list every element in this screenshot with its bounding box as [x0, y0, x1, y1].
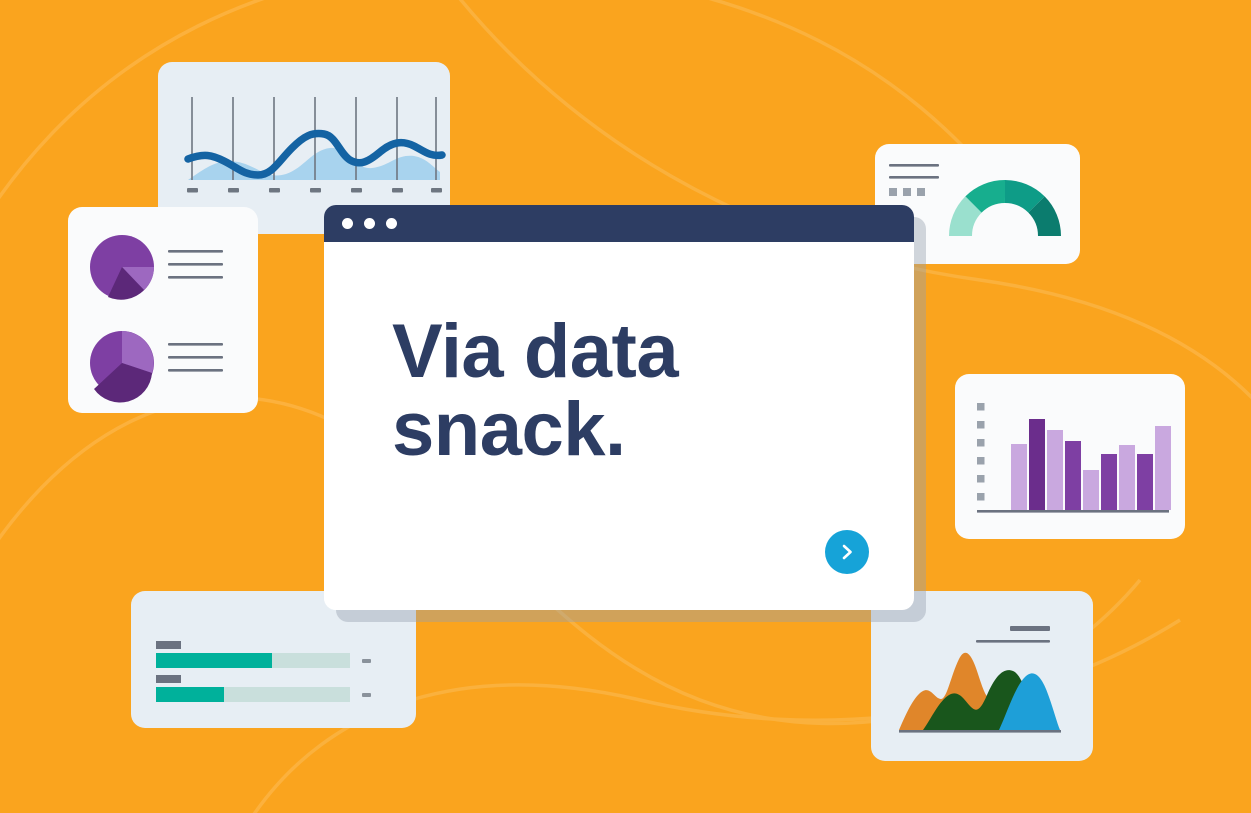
pie-chart-svg: [68, 207, 258, 413]
gauge-arc-segments: [960, 191, 1049, 236]
gauge-header-squares: [889, 188, 925, 196]
card-surface: [68, 207, 258, 413]
card-surface: [955, 374, 1185, 539]
pie-bottom: [90, 331, 154, 402]
bar-chart-card: [955, 374, 1185, 539]
bar-chart-bars: [1011, 419, 1171, 510]
window-dot-maximize-icon[interactable]: [386, 218, 397, 229]
page-title: Via data snack.: [392, 313, 678, 468]
window-dot-close-icon[interactable]: [342, 218, 353, 229]
gauge-header-lines: [889, 164, 939, 179]
progress-row-2-label: [156, 675, 181, 683]
progress-row-1-fill: [156, 653, 272, 668]
bar-chart-svg: [955, 374, 1185, 539]
window-body: Via data snack.: [324, 205, 914, 610]
progress-row-2-value: [362, 693, 371, 697]
progress-row-1-label: [156, 641, 181, 649]
main-browser-window: Via data snack.: [324, 205, 914, 610]
next-arrow-button[interactable]: [825, 530, 869, 574]
area-header-lines: [976, 626, 1050, 643]
pie-chart-card: [68, 207, 258, 413]
pie-top: [90, 235, 154, 300]
chevron-right-icon: [838, 543, 856, 561]
progress-row-2-fill: [156, 687, 224, 702]
progress-row-1-value: [362, 659, 371, 663]
line-chart-tick-labels: [187, 188, 442, 193]
pie-legend-lines: [168, 250, 223, 372]
window-dot-minimize-icon[interactable]: [364, 218, 375, 229]
illustration-canvas: Via data snack.: [0, 0, 1251, 813]
area-baseline: [899, 730, 1061, 733]
window-titlebar: [324, 205, 914, 242]
bar-chart-axis-markers: [977, 403, 985, 501]
bar-chart-baseline: [977, 510, 1169, 513]
